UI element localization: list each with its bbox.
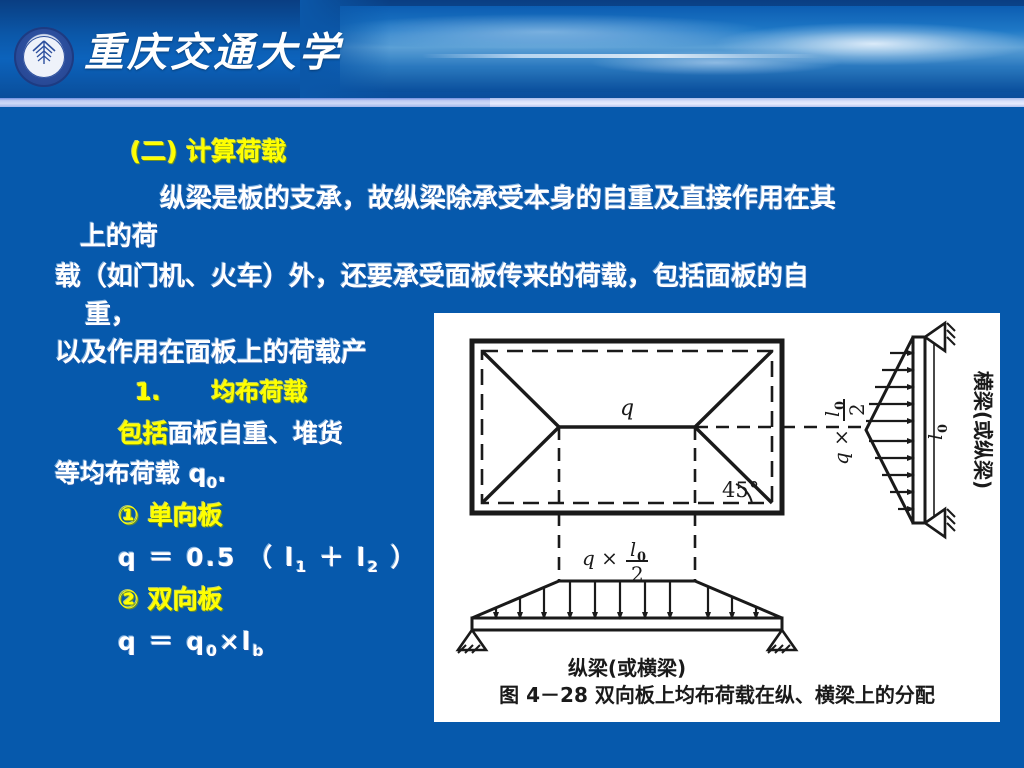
university-name-logotype: 重庆交通大学: [84, 24, 329, 82]
formula-1-part-2: ＋ l: [308, 543, 367, 572]
yield-line-tr: [695, 351, 772, 427]
right-span-label-group: l 0: [925, 424, 951, 440]
bottom-beam-label: 纵梁(或横梁): [568, 656, 686, 680]
right-load-formula: q × l 0 2: [822, 399, 869, 465]
right-span-label: l: [925, 434, 947, 440]
formula-1-sub-1: 1: [296, 558, 309, 576]
right-support-top: [925, 323, 945, 351]
formula-2-sub-2: b: [253, 642, 266, 660]
two-way-slab-label: ② 双向板: [118, 580, 223, 616]
formula-1-sub-2: 2: [367, 558, 380, 576]
list-item-1-number: 1.: [135, 378, 161, 406]
bottom-load-q-times: q ×: [582, 546, 618, 570]
university-seal-icon: [14, 27, 74, 87]
seal-bridge-emblem-icon: [29, 40, 59, 66]
right-support-bottom: [925, 509, 945, 537]
bottom-load-frac-denominator: 2: [631, 562, 644, 586]
formula-1-part-1: q ＝ 0.5 （ l: [118, 543, 296, 572]
right-load-arrows: [866, 353, 913, 509]
slide-header-banner: 重庆交通大学: [0, 0, 1024, 98]
yield-line-bl: [482, 427, 559, 503]
right-load-q-times: q ×: [829, 429, 853, 465]
right-load-frac-numerator: l: [822, 411, 844, 417]
section-heading: (二) 计算荷载: [130, 132, 287, 168]
angle-label: 45°: [722, 478, 759, 502]
uniform-load-text: 等均布荷载 q: [55, 459, 207, 488]
bottom-beam: [472, 618, 782, 630]
uniform-load-period: .: [217, 459, 227, 488]
right-beam: [913, 337, 925, 523]
list-item-1: 1. 均布荷载: [135, 372, 308, 407]
include-line: 包括面板自重、堆货: [118, 414, 343, 450]
paragraph-1-line-2: 上的荷: [80, 216, 158, 253]
include-keyword: 包括: [118, 419, 168, 448]
formula-2-part-1: q ＝ q: [118, 627, 206, 656]
header-bridge-photo: [340, 6, 1024, 92]
paragraph-2-line-1: 载（如门机、火车）外，还要承受面板传来的荷载，包括面板的自: [55, 256, 809, 293]
yield-line-tl: [482, 351, 559, 427]
bottom-support-hatching: [458, 645, 790, 653]
presentation-slide: 重庆交通大学 (二) 计算荷载 纵梁是板的支承，故纵梁除承受本身的自重及直接作用…: [0, 0, 1024, 768]
one-way-slab-formula: q ＝ 0.5 （ l1 ＋ l2 ）: [118, 538, 418, 576]
one-way-slab-label: ① 单向板: [118, 496, 223, 532]
paragraph-3: 以及作用在面板上的荷载产: [55, 332, 367, 369]
list-item-1-label: 均布荷载: [212, 378, 308, 406]
figure-panel: q 45° q × l 0 2 纵梁(或横梁) q × l 0 2 l: [434, 313, 1000, 722]
formula-1-part-3: ）: [380, 543, 418, 572]
figure-diagram: q 45° q × l 0 2 纵梁(或横梁) q × l 0 2 l: [434, 313, 1000, 688]
right-load-frac-denominator: 2: [845, 403, 869, 416]
right-beam-label: 横梁(或纵梁): [971, 371, 995, 489]
right-load-triangle: [866, 337, 913, 523]
header-divider-stripe-highlight: [490, 98, 1024, 107]
two-way-slab-formula: q ＝ q0×lb: [118, 622, 266, 660]
bottom-load-frac-numerator: l: [630, 539, 636, 561]
include-rest-text: 面板自重、堆货: [168, 419, 343, 448]
paragraph-1-line-1: 纵梁是板的支承，故纵梁除承受本身的自重及直接作用在其: [160, 178, 836, 215]
uniform-load-line: 等均布荷载 q0.: [55, 454, 227, 492]
formula-2-part-2: ×l: [219, 627, 253, 656]
uniform-load-subscript: 0: [207, 474, 218, 492]
paragraph-2-line-2: 重，: [85, 294, 137, 331]
bottom-load-formula: q × l 0 2: [582, 539, 648, 586]
right-span-label-sub: 0: [936, 424, 951, 433]
figure-caption: 图 4－28 双向板上均布荷载在纵、横梁上的分配: [434, 679, 1000, 708]
plate-load-label: q: [620, 396, 634, 421]
formula-2-sub-1: 0: [206, 642, 219, 660]
